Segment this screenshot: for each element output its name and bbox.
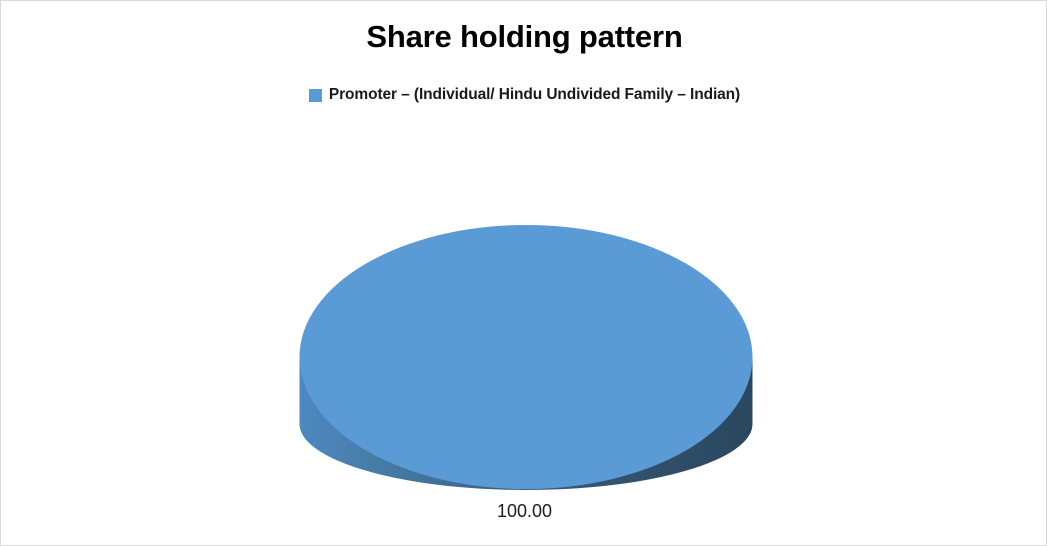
pie-slice-promoter[interactable]	[300, 225, 753, 489]
chart-container: Share holding pattern Promoter – (Indivi…	[0, 0, 1047, 546]
pie-data-label: 100.00	[1, 501, 1047, 522]
plot-area	[1, 1, 1047, 546]
pie-chart-3d	[1, 1, 1047, 546]
